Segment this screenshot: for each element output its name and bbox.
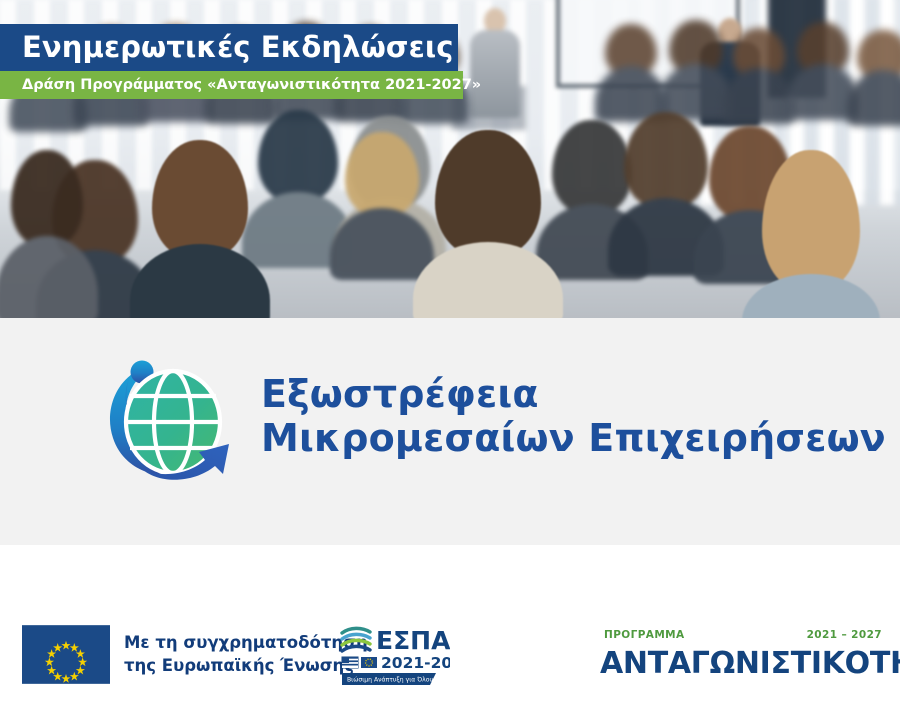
audience-person [596, 24, 666, 120]
brand-section: Εξωστρέφεια Μικρομεσαίων Επιχειρήσεων [0, 318, 900, 545]
audience-person [660, 20, 732, 118]
espa-tagline: Βιώσιμη Ανάπτυξη για Όλους [347, 675, 437, 683]
eu-cofinancing-text: Με τη συγχρηματοδότηση της Ευρωπαϊκής Έν… [124, 632, 368, 677]
brand-title: Εξωστρέφεια Μικρομεσαίων Επιχειρήσεων [261, 372, 886, 461]
greek-flag-mini [342, 657, 358, 668]
espa-years: 2021-2027 [381, 654, 450, 672]
footer: Με τη συγχρηματοδότηση της Ευρωπαϊκής Έν… [0, 545, 900, 717]
banner-subtitle: Δράση Προγράμματος «Ανταγωνιστικότητα 20… [0, 71, 463, 99]
espa-logo: ΕΣΠΑ 2021-2027 Βιώσιμη Ανάπτυξη για Όλου… [340, 621, 450, 687]
banner-title-text: Ενημερωτικές Εκδηλώσεις [22, 33, 454, 62]
espa-waves [342, 628, 370, 651]
audience-person [724, 28, 794, 122]
programme-logo: ΠΡΟΓΡΑΜΜΑ 2021 – 2027 ΑΝΤΑΓΩΝΙΣΤΙΚΟΤΗΤΑ [600, 630, 882, 680]
poster-canvas: Ενημερωτικές Εκδηλώσεις Δράση Προγράμματ… [0, 0, 900, 717]
audience-person-foreground [418, 130, 558, 318]
audience-person-foreground [748, 150, 874, 318]
programme-label: ΠΡΟΓΡΑΜΜΑ [604, 630, 685, 641]
eu-text-line1: Με τη συγχρηματοδότηση [124, 632, 368, 654]
eu-flag-mini [361, 657, 377, 668]
programme-years: 2021 – 2027 [807, 630, 882, 641]
brand-title-line2: Μικρομεσαίων Επιχειρήσεων [261, 416, 886, 460]
audience-person-foreground [136, 140, 264, 318]
banner-subtitle-text: Δράση Προγράμματος «Ανταγωνιστικότητα 20… [22, 78, 481, 93]
hero-photo: Ενημερωτικές Εκδηλώσεις Δράση Προγράμματ… [0, 0, 900, 318]
eu-text-line2: της Ευρωπαϊκής Ένωσης [124, 655, 368, 677]
european-union-flag [22, 625, 110, 684]
espa-wordmark: ΕΣΠΑ [376, 626, 450, 655]
programme-name: ΑΝΤΑΓΩΝΙΣΤΙΚΟΤΗΤΑ [600, 648, 882, 680]
brand-title-line1: Εξωστρέφεια [261, 372, 886, 416]
audience-person [0, 150, 94, 318]
programme-top-row: ΠΡΟΓΡΑΜΜΑ 2021 – 2027 [600, 630, 882, 644]
audience-person [334, 132, 430, 272]
globe-person-arrow-logo [95, 352, 235, 480]
banner-title: Ενημερωτικές Εκδηλώσεις [0, 24, 458, 71]
eu-cofinancing-block: Με τη συγχρηματοδότηση της Ευρωπαϊκής Έν… [22, 625, 368, 684]
audience-person [848, 30, 900, 122]
brand-row: Εξωστρέφεια Μικρομεσαίων Επιχειρήσεων [95, 352, 886, 480]
